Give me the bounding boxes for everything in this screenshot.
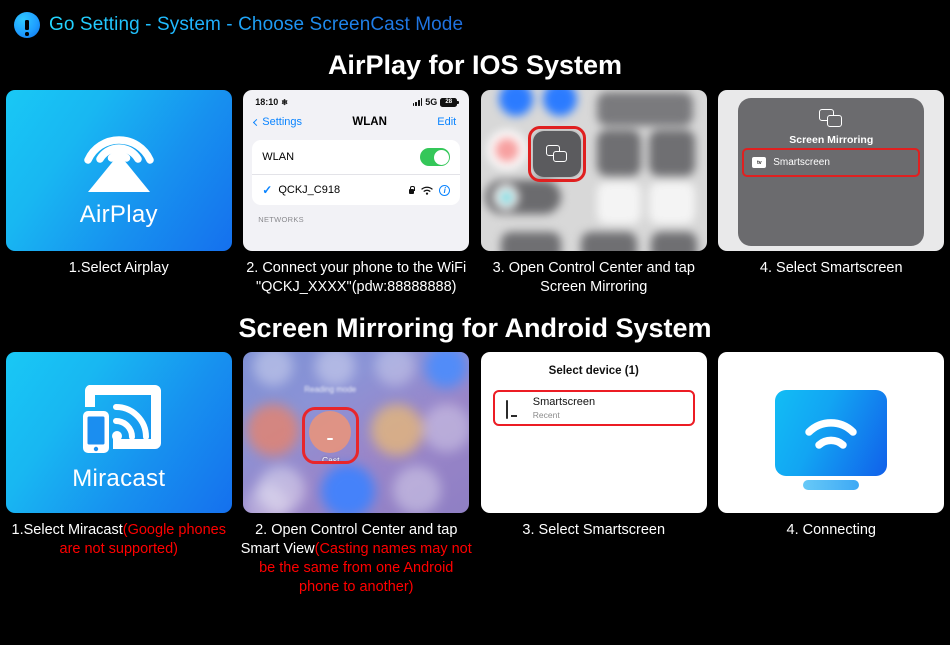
wlan-toggle-switch[interactable] (420, 148, 450, 166)
airplay-card[interactable]: AirPlay (6, 90, 232, 251)
reading-mode-label: Reading mode (295, 385, 365, 395)
monitor-icon (506, 401, 523, 416)
step-cell-android-2: Reading mode Cast 2. Open Control Center… (238, 352, 476, 597)
wifi-ssid-label: QCKJ_C918 (278, 184, 340, 196)
status-time: 18:10 (255, 97, 278, 107)
ios-control-center-card[interactable] (481, 90, 707, 251)
ios-status-bar: 18:10 ❄ 5G 28 (252, 97, 460, 107)
device-sub-label: Recent (533, 409, 595, 421)
card-row-ios: AirPlay 1.Select Airplay 18:10 ❄ 5G (0, 90, 950, 297)
wlan-settings-group: WLAN ✓ QCKJ_C918 (252, 140, 460, 205)
highlight-box-cast (302, 407, 359, 464)
edit-button[interactable]: Edit (437, 116, 456, 128)
step-cell-ios-3: 3. Open Control Center and tap Screen Mi… (475, 90, 713, 297)
panel-title: Screen Mirroring (789, 134, 873, 146)
lock-icon (408, 186, 415, 195)
tv-wifi-icon (775, 390, 887, 476)
tv-stand (803, 480, 859, 490)
caption-android-4: 4. Connecting (715, 521, 947, 540)
nav-title: WLAN (352, 116, 387, 128)
control-center-blurred-background (481, 90, 707, 251)
step-cell-android-1: Miracast 1.Select Miracast(Google phones… (0, 352, 238, 597)
select-device-title: Select device (1) (493, 365, 695, 377)
screen-mirroring-icon (819, 109, 843, 128)
wlan-row-label: WLAN (262, 151, 294, 163)
caption-ios-3: 3. Open Control Center and tap Screen Mi… (478, 259, 710, 297)
section-title-android: Screen Mirroring for Android System (0, 313, 950, 344)
header-text: Go Setting - System - Choose ScreenCast … (49, 14, 463, 36)
signal-bars-icon (413, 98, 422, 106)
wifi-icon (421, 186, 433, 195)
highlight-box-screen-mirroring (528, 126, 586, 182)
device-list-item-smartscreen[interactable]: Smartscreen Recent (493, 390, 695, 426)
card-row-android: Miracast 1.Select Miracast(Google phones… (0, 352, 950, 597)
section-title-ios: AirPlay for IOS System (0, 50, 950, 81)
caption-ios-4: 4. Select Smartscreen (715, 259, 947, 278)
screenshot-root: Go Setting - System - Choose ScreenCast … (0, 0, 950, 645)
caption-android-2: 2. Open Control Center and tap Smart Vie… (240, 521, 472, 597)
miracast-icon (69, 373, 169, 461)
airplay-icon (71, 113, 167, 197)
wifi-arcs-icon (801, 414, 861, 452)
step-cell-android-3: Select device (1) Smartscreen Recent 3. … (475, 352, 713, 597)
back-to-settings-button[interactable]: Settings (254, 116, 302, 128)
connecting-card[interactable] (718, 352, 944, 513)
caption-ios-1: 1.Select Airplay (3, 259, 235, 278)
ios-wlan-settings-card[interactable]: 18:10 ❄ 5G 28 Settings (243, 90, 469, 251)
networks-section-label: NETWORKS (252, 205, 460, 224)
ios-nav-bar: Settings WLAN Edit (252, 107, 460, 138)
step-cell-android-4: 4. Connecting (713, 352, 950, 597)
android-select-device-card[interactable]: Select device (1) Smartscreen Recent (481, 352, 707, 513)
caption-android-3: 3. Select Smartscreen (478, 521, 710, 540)
battery-icon: 28 (440, 98, 457, 107)
highlight-box-smartscreen (742, 148, 920, 177)
wifi-network-row[interactable]: ✓ QCKJ_C918 (252, 174, 460, 205)
miracast-card[interactable]: Miracast (6, 352, 232, 513)
airplay-label: AirPlay (80, 201, 158, 229)
screen-mirroring-panel: Screen Mirroring tv Smartscreen (738, 98, 924, 246)
header-banner: Go Setting - System - Choose ScreenCast … (14, 12, 463, 38)
checkmark-icon: ✓ (262, 183, 272, 197)
snowflake-icon: ❄ (281, 98, 288, 107)
wlan-toggle-row[interactable]: WLAN (252, 140, 460, 174)
info-icon[interactable]: i (439, 185, 450, 196)
step-cell-ios-1: AirPlay 1.Select Airplay (0, 90, 238, 297)
miracast-label: Miracast (72, 465, 165, 493)
android-control-center-card[interactable]: Reading mode Cast (243, 352, 469, 513)
ios-screen-mirroring-sheet-card[interactable]: Screen Mirroring tv Smartscreen (718, 90, 944, 251)
network-type-label: 5G (425, 97, 437, 107)
step-cell-ios-2: 18:10 ❄ 5G 28 Settings (238, 90, 476, 297)
chevron-left-icon (253, 118, 260, 125)
device-name-label: Smartscreen (533, 396, 595, 409)
caption-android-1: 1.Select Miracast(Google phones are not … (3, 521, 235, 559)
battery-level: 28 (445, 99, 452, 105)
step-cell-ios-4: Screen Mirroring tv Smartscreen 4. Selec… (713, 90, 950, 297)
caption-ios-2: 2. Connect your phone to the WiFi "QCKJ_… (240, 259, 472, 297)
exclamation-circle-icon (14, 12, 40, 38)
